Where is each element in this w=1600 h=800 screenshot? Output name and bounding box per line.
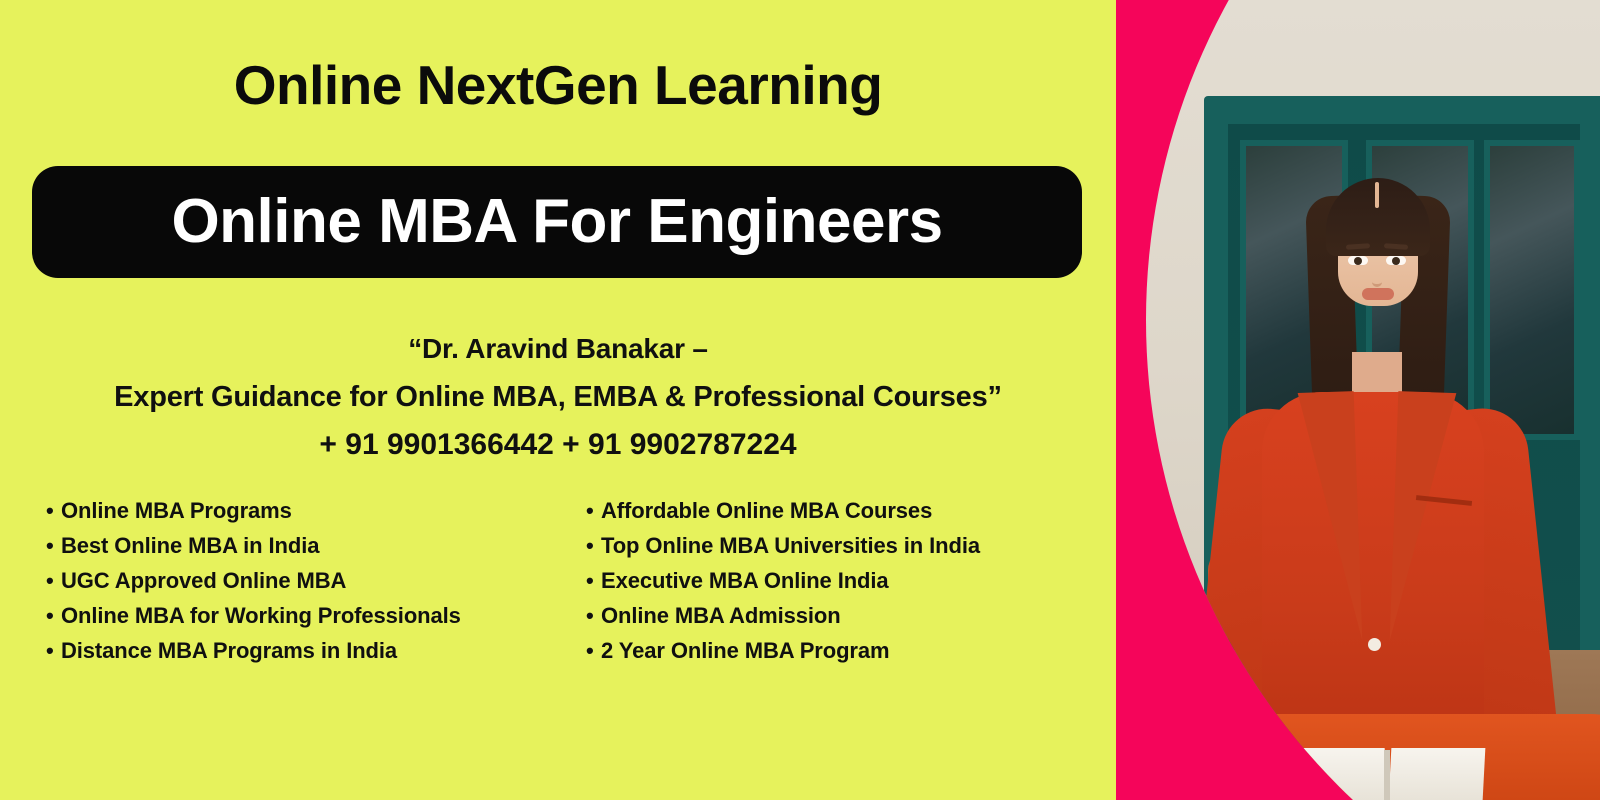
list-item: • Best Online MBA in India bbox=[46, 533, 461, 568]
photo-lapel-right bbox=[1390, 391, 1457, 643]
bullet-dot-icon: • bbox=[586, 605, 601, 627]
bullet-dot-icon: • bbox=[46, 570, 61, 592]
bullet-dot-icon: • bbox=[46, 535, 61, 557]
list-item: • 2 Year Online MBA Program bbox=[586, 638, 980, 673]
bullet-dot-icon: • bbox=[586, 640, 601, 662]
bullet-dot-icon: • bbox=[46, 605, 61, 627]
photo-pupil bbox=[1392, 257, 1400, 265]
photo-pupil bbox=[1354, 257, 1362, 265]
photo-lapel-left bbox=[1298, 391, 1363, 643]
subtitle-line-2: Expert Guidance for Online MBA, EMBA & P… bbox=[0, 373, 1116, 421]
photo-nose bbox=[1372, 272, 1382, 287]
list-item-label: 2 Year Online MBA Program bbox=[601, 638, 890, 664]
bullet-dot-icon: • bbox=[46, 500, 61, 522]
list-item-label: Online MBA Programs bbox=[61, 498, 292, 524]
photo-lips bbox=[1362, 288, 1394, 300]
list-item: • Distance MBA Programs in India bbox=[46, 638, 461, 673]
list-item-label: UGC Approved Online MBA bbox=[61, 568, 346, 594]
photo-hair-part bbox=[1375, 182, 1379, 208]
content-panel: Online NextGen Learning Online MBA For E… bbox=[0, 0, 1116, 800]
keyword-lists: • Online MBA Programs • Best Online MBA … bbox=[0, 498, 1116, 683]
list-item-label: Online MBA for Working Professionals bbox=[61, 603, 461, 629]
contact-phone-numbers: + 91 9901366442 + 91 9902787224 bbox=[0, 421, 1116, 469]
photo-book-spine bbox=[1384, 750, 1390, 800]
brand-headline: Online NextGen Learning bbox=[0, 58, 1116, 113]
bullet-dot-icon: • bbox=[586, 500, 601, 522]
title-banner-text: Online MBA For Engineers bbox=[171, 191, 942, 253]
list-item-label: Executive MBA Online India bbox=[601, 568, 889, 594]
list-item-label: Online MBA Admission bbox=[601, 603, 841, 629]
list-item: • Online MBA for Working Professionals bbox=[46, 603, 461, 638]
list-item: • Top Online MBA Universities in India bbox=[586, 533, 980, 568]
list-item-label: Best Online MBA in India bbox=[61, 533, 319, 559]
photo-button bbox=[1368, 638, 1381, 651]
list-item-label: Affordable Online MBA Courses bbox=[601, 498, 932, 524]
subtitle-line-1: “Dr. Aravind Banakar – bbox=[0, 325, 1116, 373]
title-banner: Online MBA For Engineers bbox=[32, 166, 1082, 278]
photo-panel bbox=[1116, 0, 1600, 800]
list-item: • Affordable Online MBA Courses bbox=[586, 498, 980, 533]
bullet-list-left: • Online MBA Programs • Best Online MBA … bbox=[46, 498, 461, 673]
bullet-dot-icon: • bbox=[586, 535, 601, 557]
bullet-list-right: • Affordable Online MBA Courses • Top On… bbox=[586, 498, 980, 673]
list-item: • UGC Approved Online MBA bbox=[46, 568, 461, 603]
list-item: • Online MBA Programs bbox=[46, 498, 461, 533]
photo-book-page bbox=[1389, 748, 1486, 800]
photo-door-glass bbox=[1484, 140, 1580, 440]
list-item: • Executive MBA Online India bbox=[586, 568, 980, 603]
subtitle-block: “Dr. Aravind Banakar – Expert Guidance f… bbox=[0, 325, 1116, 469]
bullet-dot-icon: • bbox=[586, 570, 601, 592]
promotional-banner: Online NextGen Learning Online MBA For E… bbox=[0, 0, 1600, 800]
list-item-label: Distance MBA Programs in India bbox=[61, 638, 397, 664]
list-item-label: Top Online MBA Universities in India bbox=[601, 533, 980, 559]
list-item: • Online MBA Admission bbox=[586, 603, 980, 638]
bullet-dot-icon: • bbox=[46, 640, 61, 662]
